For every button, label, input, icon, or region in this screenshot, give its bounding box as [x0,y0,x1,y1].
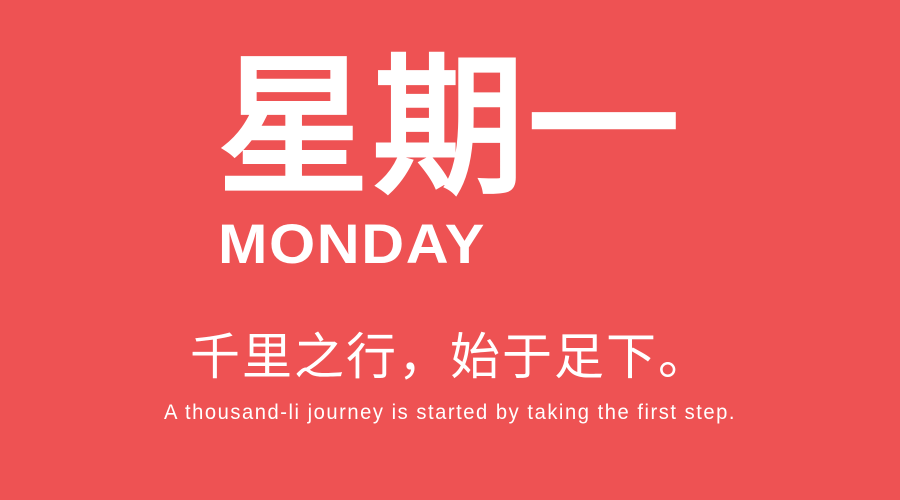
weekday-title-cjk: 星期一 [218,52,683,204]
quote-text-cjk: 千里之行，始于足下。 [0,326,900,388]
hero-block: 星期一 MONDAY [0,52,900,272]
daily-weekday-card: 星期一 MONDAY 千里之行，始于足下。 A thousand-li jour… [0,0,900,500]
quote-text-english: A thousand-li journey is started by taki… [18,400,882,425]
weekday-title-english: MONDAY [218,216,486,272]
quote-block: 千里之行，始于足下。 A thousand-li journey is star… [0,326,900,425]
hero-inner: 星期一 MONDAY [218,52,683,272]
